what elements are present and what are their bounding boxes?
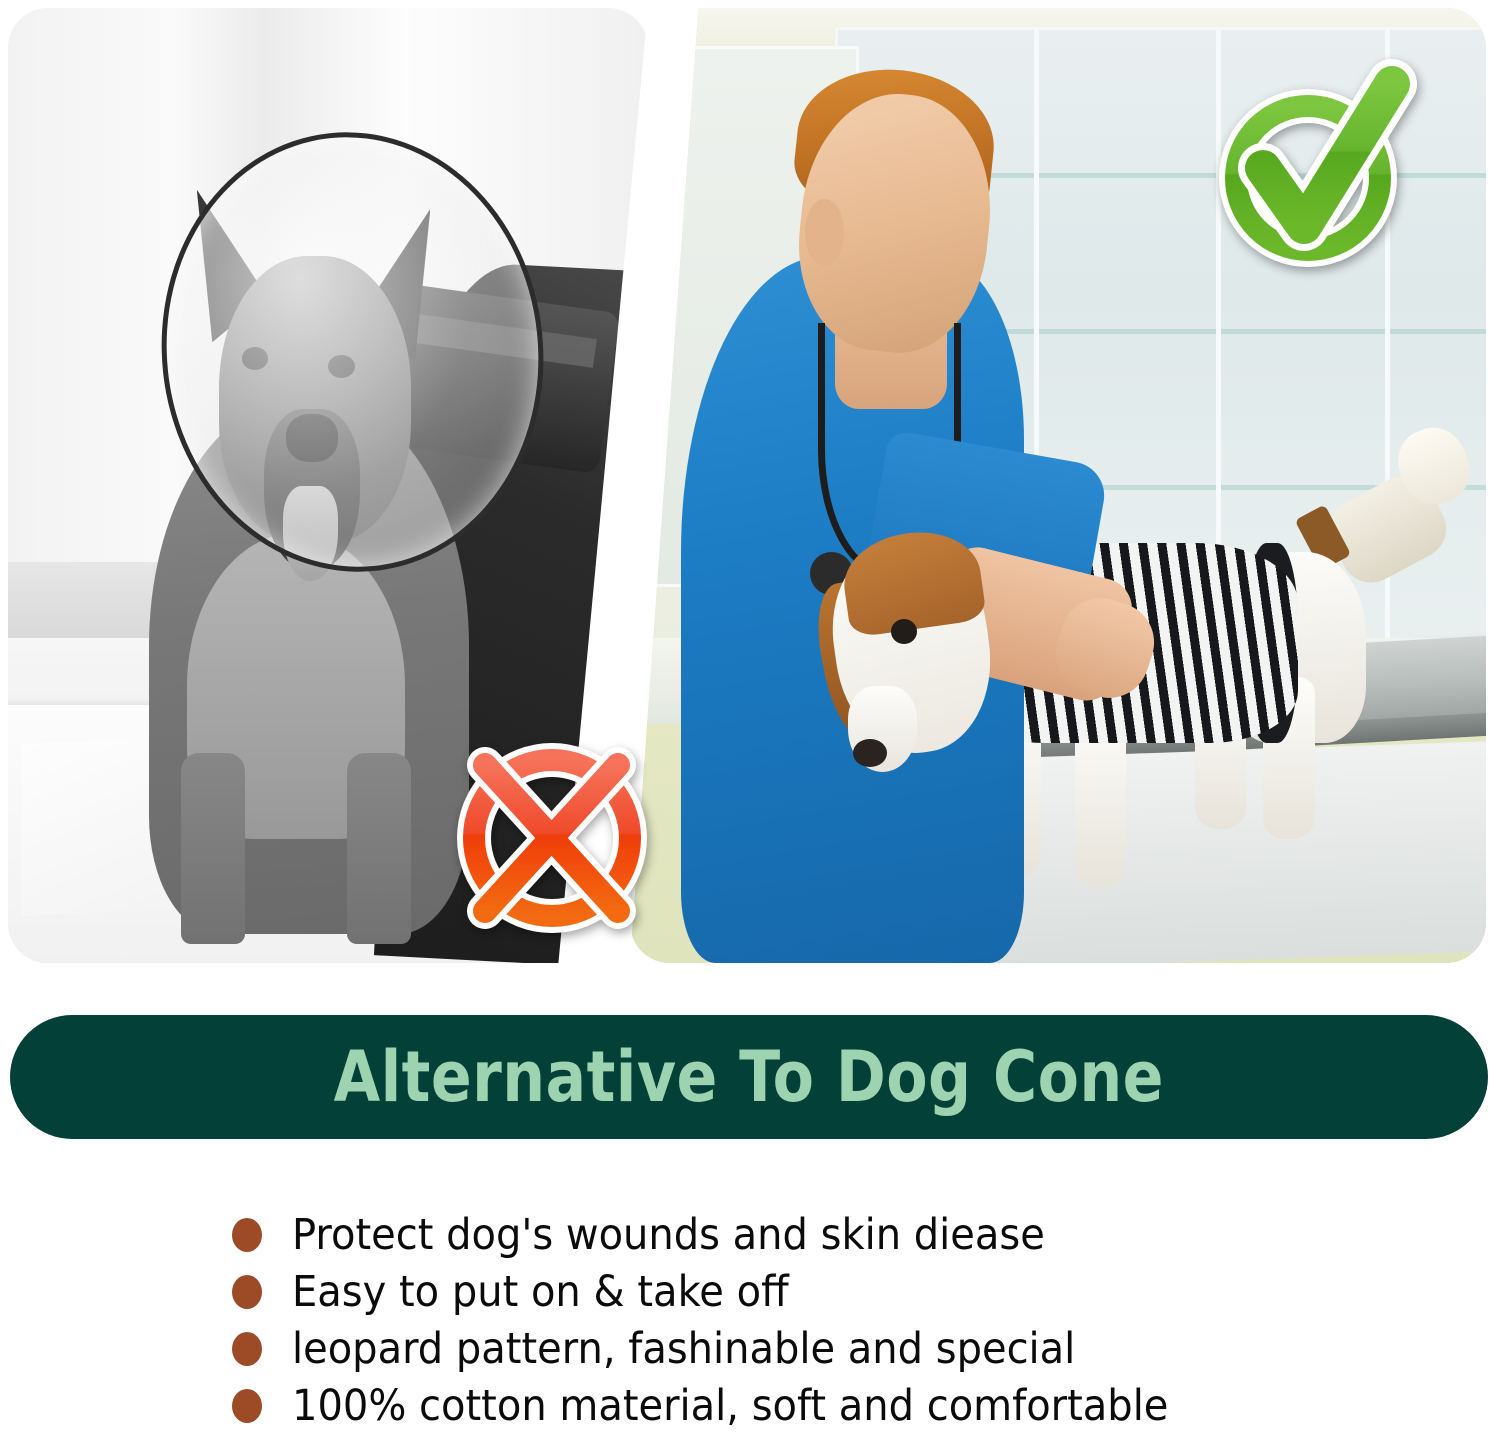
feature-text: 100% cotton material, soft and comfortab…: [292, 1381, 1168, 1431]
green-check-badge: [1216, 58, 1421, 268]
headline-banner: Alternative To Dog Cone: [10, 1015, 1488, 1139]
list-item: Protect dog's wounds and skin diease: [232, 1206, 1482, 1263]
bullet-dot-icon: [232, 1275, 262, 1309]
shepherd-front-leg-right: [347, 753, 411, 944]
feature-list: Protect dog's wounds and skin diease Eas…: [232, 1206, 1482, 1434]
red-x-badge: [455, 735, 650, 940]
shepherd-front-leg-left: [181, 753, 245, 944]
beagle-nose: [853, 739, 887, 768]
vet-ear: [805, 199, 844, 266]
feature-text: leopard pattern, fashinable and special: [292, 1324, 1075, 1374]
feature-text: Protect dog's wounds and skin diease: [292, 1210, 1045, 1260]
comparison-area: [0, 0, 1494, 975]
list-item: 100% cotton material, soft and comfortab…: [232, 1377, 1482, 1434]
feature-text: Easy to put on & take off: [292, 1267, 789, 1317]
bullet-dot-icon: [232, 1218, 262, 1252]
headline-title: Alternative To Dog Cone: [334, 1036, 1164, 1118]
bullet-dot-icon: [232, 1332, 262, 1366]
bullet-dot-icon: [232, 1389, 262, 1423]
list-item: leopard pattern, fashinable and special: [232, 1320, 1482, 1377]
list-item: Easy to put on & take off: [232, 1263, 1482, 1320]
beagle-eye: [891, 619, 917, 644]
